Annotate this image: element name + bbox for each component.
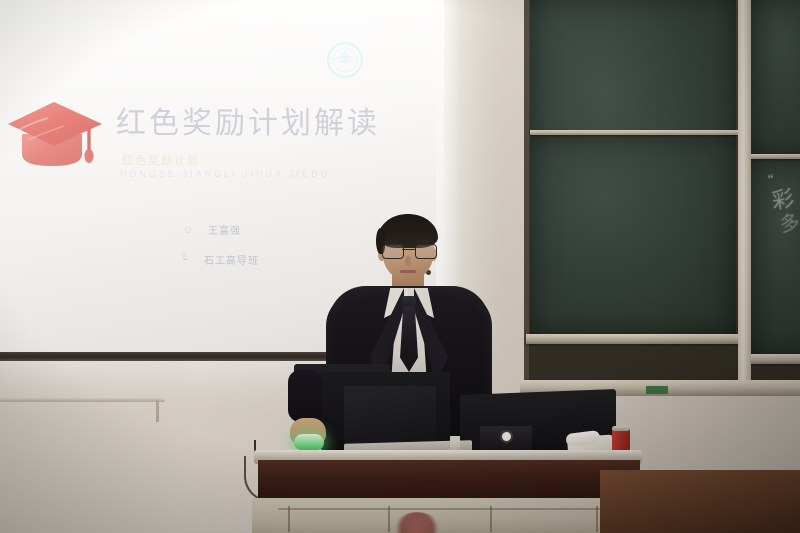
wall-rail [0,398,165,402]
podium-panel-divider-4 [596,506,598,532]
slide-subtitle-chinese: 红色奖励计划 [122,152,200,168]
slide-meta-class-label: 石工高导班 [204,252,259,267]
laptop [344,386,436,450]
chalkboard: “ 彩 多 [524,0,800,394]
eyeglass-bridge [402,249,415,250]
eyeglass-lens-left [382,244,404,259]
slide-meta-class: └ 石工高导班 [178,252,259,267]
floor [600,470,800,533]
slide-title: 红色奖励计划解读 [116,98,380,142]
chalkboard-rail-left [530,130,738,135]
chalk-mark-3: 多 [778,212,800,237]
slide-meta-presenter-label: 王富强 [208,222,241,237]
chalkboard-panel-3 [751,0,800,156]
chalkboard-panel-2 [530,134,736,336]
podium-panel-top-line [278,508,608,510]
soda-can-top [612,426,630,431]
presenter-mouth [400,270,416,273]
lecture-podium [248,388,648,533]
podium-panel-divider-2 [388,506,390,532]
chalkboard-divider [738,0,751,392]
wall-rail-bracket [156,400,159,422]
podium-panel-divider-1 [288,506,290,532]
podium-wood-body [258,460,640,502]
graduation-cap-icon [4,90,108,178]
chalkboard-rail-right [751,154,800,159]
person-icon: ☺ [182,224,194,236]
university-seal-logo-icon [314,40,376,80]
chalkboard-ledge-left [526,334,740,344]
classroom-presentation-photo: “ 彩 多 [0,0,800,533]
control-box-dial-icon [502,432,511,441]
slide-meta-presenter: ☺ 王富强 [182,222,241,237]
chalk-mark-1: “ [768,172,776,186]
chalk-mark-2: 彩 [770,186,795,212]
location-icon: └ [178,254,190,266]
eyeglass-lens-right [415,244,437,259]
green-label-tag [646,386,668,394]
presenter-arm [288,370,322,422]
chalkboard-ledge-right [749,354,800,364]
podium-front-panel [252,498,648,533]
presenter-nose [405,256,411,266]
podium-panel-divider-3 [490,506,492,532]
slide-subtitle-pinyin: HONGSE JIANGLI JIHUA JIEDU [120,169,330,179]
